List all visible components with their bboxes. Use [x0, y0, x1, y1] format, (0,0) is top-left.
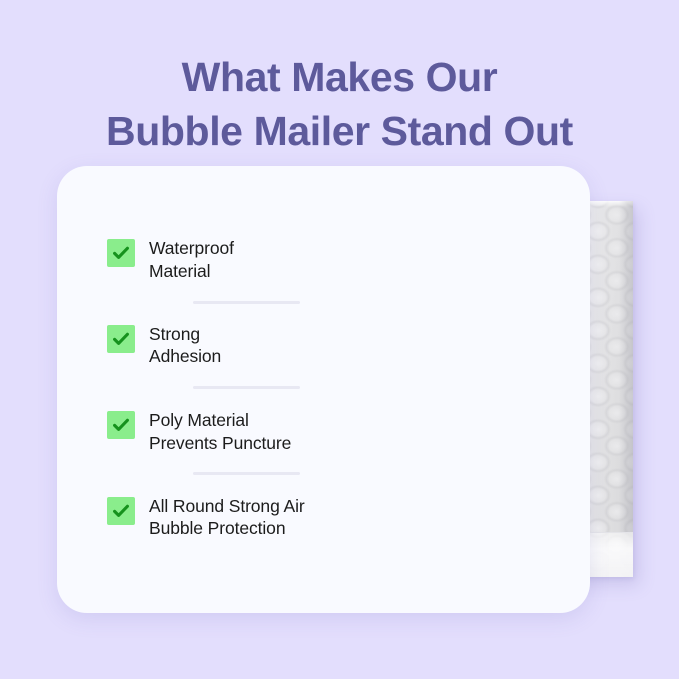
list-divider — [193, 386, 300, 389]
list-item-label: Waterproof Material — [149, 236, 234, 283]
list-divider — [193, 472, 300, 475]
check-icon — [107, 325, 135, 353]
list-item: Poly Material Prevents Puncture — [107, 408, 347, 455]
check-icon — [107, 239, 135, 267]
list-item: All Round Strong Air Bubble Protection — [107, 494, 347, 541]
page-title-line-1: What Makes Our — [0, 51, 679, 104]
mailer-right-fold-shadow — [619, 201, 633, 577]
check-icon — [107, 411, 135, 439]
page-title: What Makes Our Bubble Mailer Stand Out — [0, 51, 679, 158]
list-item-label: Poly Material Prevents Puncture — [149, 408, 291, 455]
list-item-label: Strong Adhesion — [149, 322, 221, 369]
list-item: Strong Adhesion — [107, 322, 347, 369]
list-item-label: All Round Strong Air Bubble Protection — [149, 494, 305, 541]
feature-card: Waterproof Material Strong Adhesion Poly… — [57, 166, 590, 613]
list-item: Waterproof Material — [107, 236, 347, 283]
page-title-line-2: Bubble Mailer Stand Out — [0, 105, 679, 158]
check-icon — [107, 497, 135, 525]
feature-list: Waterproof Material Strong Adhesion Poly… — [107, 236, 347, 540]
list-divider — [193, 301, 300, 304]
